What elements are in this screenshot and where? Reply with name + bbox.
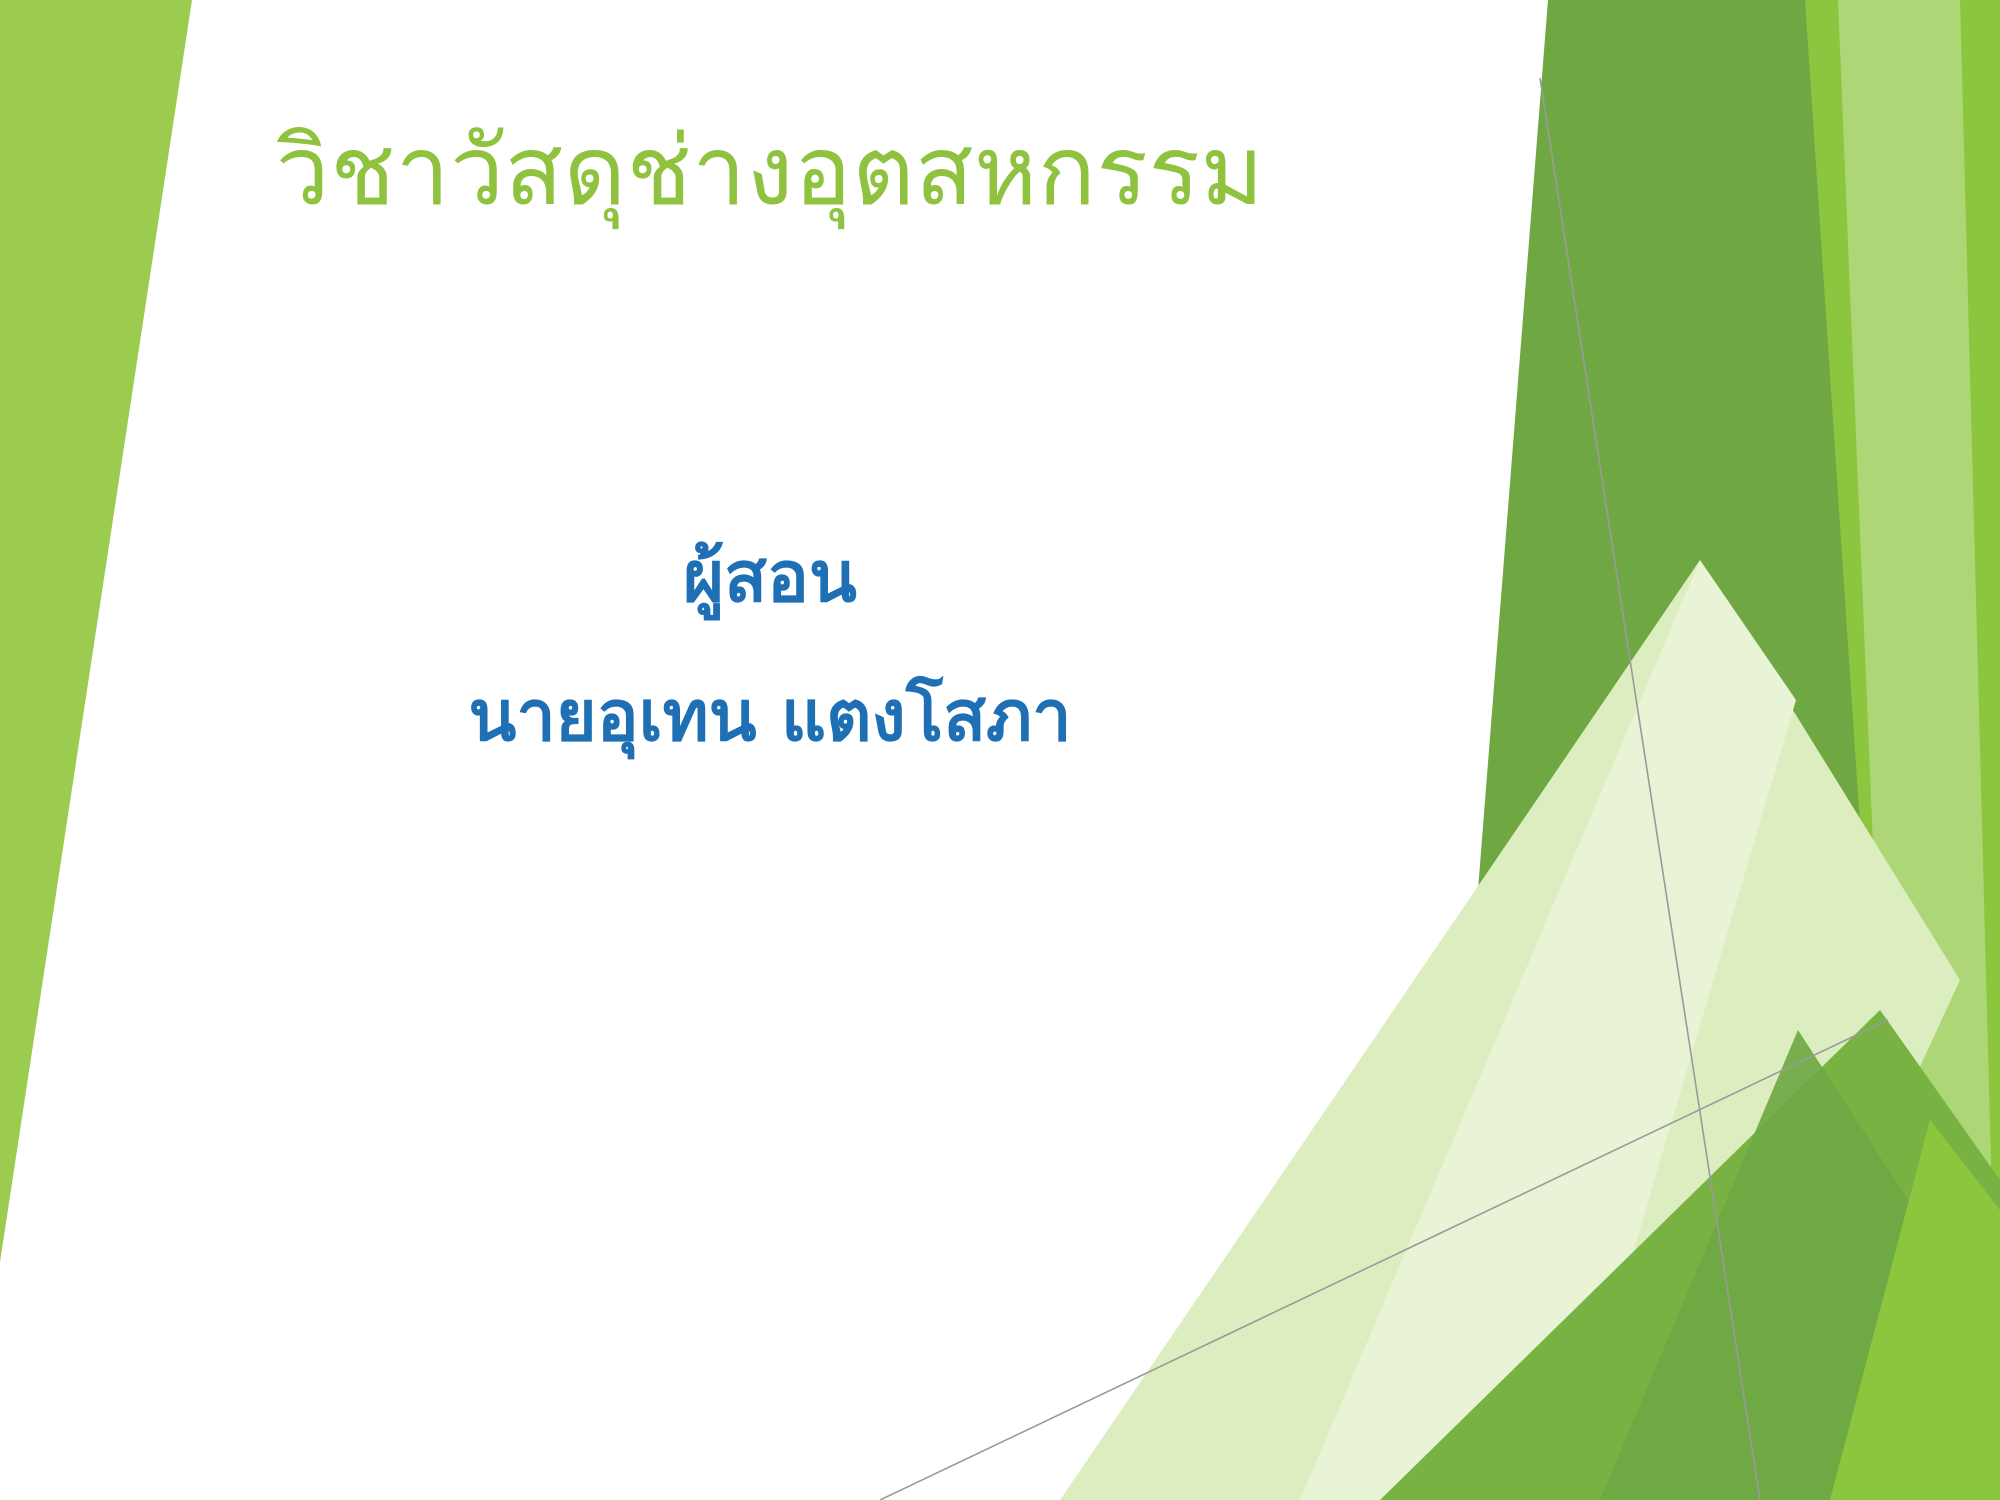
subtitle-line-role: ผู้สอน bbox=[240, 536, 1300, 619]
presentation-slide: วิชาวัสดุช่างอุตสหกรรม ผู้สอน นายอุเทน แ… bbox=[0, 0, 2000, 1500]
page-title: วิชาวัสดุช่างอุตสหกรรม bbox=[240, 118, 1300, 226]
subtitle-line-instructor-name: นายอุเทน แตงโสภา bbox=[240, 675, 1300, 758]
slide-content: วิชาวัสดุช่างอุตสหกรรม ผู้สอน นายอุเทน แ… bbox=[0, 0, 2000, 1500]
subtitle-placeholder[interactable]: ผู้สอน นายอุเทน แตงโสภา bbox=[240, 536, 1300, 757]
title-placeholder[interactable]: วิชาวัสดุช่างอุตสหกรรม bbox=[240, 118, 1300, 226]
